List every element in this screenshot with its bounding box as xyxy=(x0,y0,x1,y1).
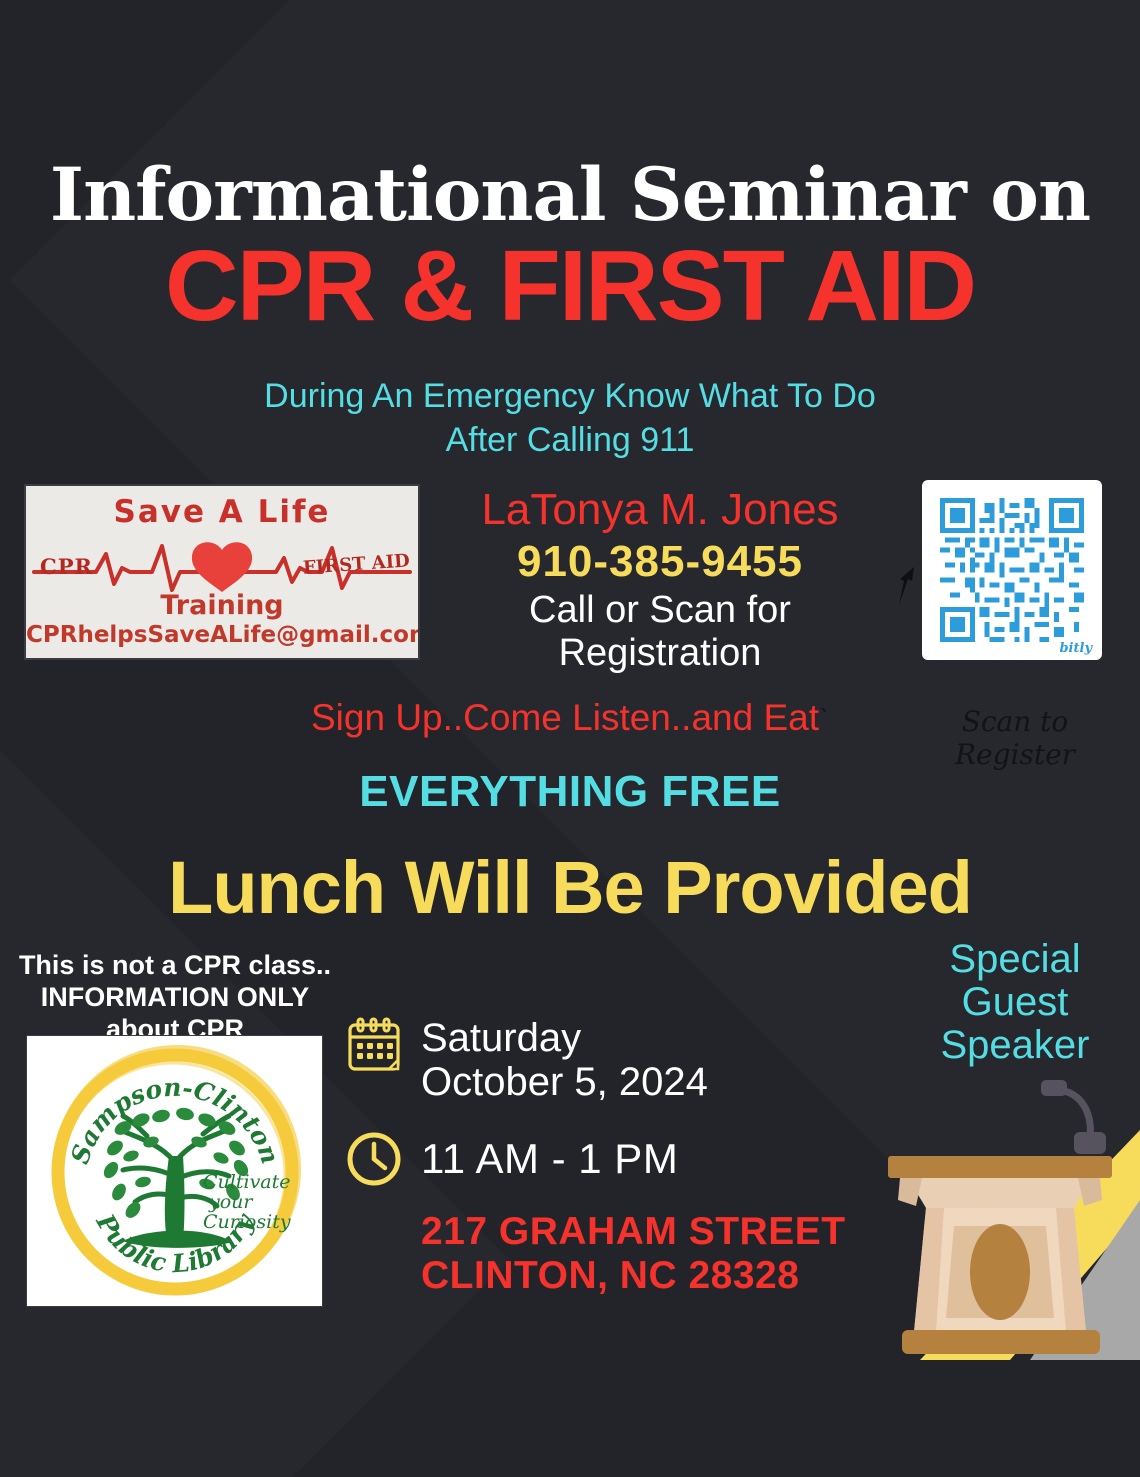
library-tagline-3: Curiosity xyxy=(203,1211,291,1233)
event-day: Saturday xyxy=(421,1016,708,1060)
event-details: Saturday October 5, 2024 11 AM - 1 PM 21… xyxy=(345,1016,885,1297)
event-address-line-1: 217 GRAHAM STREET xyxy=(421,1210,885,1254)
signup-text: Sign Up..Come Listen..and Eat xyxy=(311,697,819,738)
save-a-life-training-label: Training xyxy=(26,590,418,621)
disclaimer-block: This is not a CPR class.. INFORMATION ON… xyxy=(10,950,340,1046)
headline-line-2: CPR & FIRST AID xyxy=(0,236,1140,336)
qr-code-icon[interactable] xyxy=(940,498,1084,642)
speaker-line-2: Guest xyxy=(900,981,1130,1024)
save-a-life-email: CPRhelpsSaveALife@gmail.com xyxy=(26,622,418,648)
library-tagline-1: Cultivate xyxy=(203,1171,291,1193)
event-date-text: Saturday October 5, 2024 xyxy=(421,1016,708,1104)
speaker-line-1: Special xyxy=(900,938,1130,981)
disclaimer-line-1: This is not a CPR class.. xyxy=(10,950,340,982)
flyer-poster: Informational Seminar on CPR & FIRST AID… xyxy=(0,0,1140,1477)
podium-illustration xyxy=(860,1060,1140,1360)
library-logo: Sampson-Clinton Public Library Cultivate… xyxy=(26,1035,323,1307)
bitly-brand-label: bitly xyxy=(1059,641,1092,656)
headline-block: Informational Seminar on CPR & FIRST AID xyxy=(0,160,1140,336)
special-guest-speaker-label: Special Guest Speaker xyxy=(900,938,1130,1068)
contact-block: LaTonya M. Jones 910-385-9455 Call or Sc… xyxy=(400,486,920,674)
library-logo-icon: Sampson-Clinton Public Library Cultivate… xyxy=(27,1036,322,1306)
subtitle-block: During An Emergency Know What To Do Afte… xyxy=(0,375,1140,462)
event-date: October 5, 2024 xyxy=(421,1060,708,1104)
qr-code[interactable]: bitly xyxy=(922,480,1102,660)
event-time-text: 11 AM - 1 PM xyxy=(421,1136,678,1182)
contact-name: LaTonya M. Jones xyxy=(400,486,920,534)
subtitle-line-2: After Calling 911 xyxy=(0,419,1140,463)
clock-icon xyxy=(345,1130,403,1188)
headline-line-1: Informational Seminar on xyxy=(0,160,1140,232)
arrow-brush-icon xyxy=(894,565,918,607)
everything-free-line: EVERYTHING FREE xyxy=(0,767,1140,817)
signup-line: Sign Up..Come Listen..and Eat` xyxy=(0,697,1140,739)
save-a-life-title: Save A Life xyxy=(26,494,418,530)
event-address: 217 GRAHAM STREET CLINTON, NC 28328 xyxy=(421,1210,885,1297)
contact-cta-line-1: Call or Scan for xyxy=(400,589,920,632)
calendar-icon xyxy=(345,1016,403,1074)
lunch-provided-line: Lunch Will Be Provided xyxy=(0,845,1140,930)
contact-phone[interactable]: 910-385-9455 xyxy=(400,534,920,589)
signup-tick-mark: ` xyxy=(819,704,829,737)
contact-cta-line-2: Registration xyxy=(400,632,920,675)
event-address-line-2: CLINTON, NC 28328 xyxy=(421,1254,885,1298)
subtitle-line-1: During An Emergency Know What To Do xyxy=(0,375,1140,419)
save-a-life-cpr-label: CPR xyxy=(40,554,93,579)
save-a-life-logo: Save A Life CPR FIRST AID Training CPRhe… xyxy=(24,484,420,660)
event-time-row: 11 AM - 1 PM xyxy=(345,1130,885,1188)
event-date-row: Saturday October 5, 2024 xyxy=(345,1016,885,1104)
disclaimer-line-2: INFORMATION ONLY xyxy=(10,982,340,1014)
library-tagline-2: your xyxy=(208,1191,254,1213)
